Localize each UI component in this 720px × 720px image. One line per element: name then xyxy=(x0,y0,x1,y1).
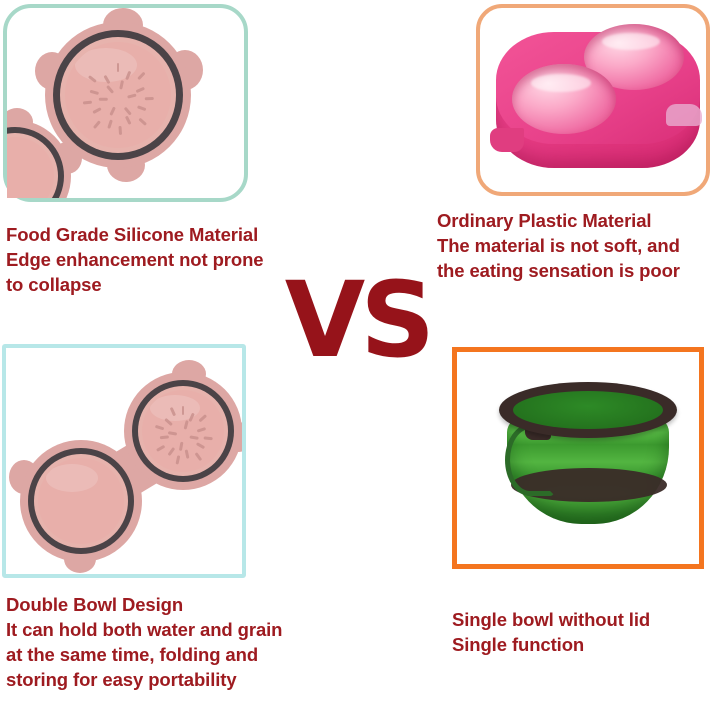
versus-label: VS xyxy=(265,266,450,376)
bowl-lid xyxy=(65,42,171,148)
plastic-bowl-cavity-front xyxy=(512,64,616,134)
lid-highlight xyxy=(46,464,98,492)
caption-bottom-right: Single bowl without lid Single function xyxy=(452,607,720,657)
product-photo-green-collapsible-bowl xyxy=(457,352,699,564)
lid-radial-pattern xyxy=(65,42,171,148)
caption-top-right: Ordinary Plastic Material The material i… xyxy=(437,208,720,283)
product-comparison-graphic: { "layout": { "width": 720, "height": 72… xyxy=(0,0,720,720)
bowl-lid xyxy=(38,458,124,544)
product-photo-pink-plastic-double-bowl xyxy=(480,8,706,192)
panel-bottom-right-frame xyxy=(452,347,704,569)
pink-bowl-right xyxy=(124,372,242,490)
pink-bowl-primary xyxy=(45,22,191,168)
green-bowl-rim xyxy=(499,382,677,438)
green-bowl-interior xyxy=(513,391,663,429)
panel-top-left-frame xyxy=(3,4,248,202)
panel-top-right-frame xyxy=(476,4,710,196)
caption-bottom-left: Double Bowl Design It can hold both wate… xyxy=(6,592,366,692)
lid-radial-pattern xyxy=(142,390,224,472)
green-bowl-group xyxy=(499,382,677,528)
product-photo-pink-silicone-bowl xyxy=(7,8,244,198)
plastic-bowl-rear-tab xyxy=(666,104,702,126)
panel-bottom-left-frame xyxy=(2,344,246,578)
plastic-bowl-foot-tab xyxy=(490,128,524,152)
bowl-lid xyxy=(142,390,224,472)
product-photo-pink-silicone-double-bowl xyxy=(6,348,242,574)
